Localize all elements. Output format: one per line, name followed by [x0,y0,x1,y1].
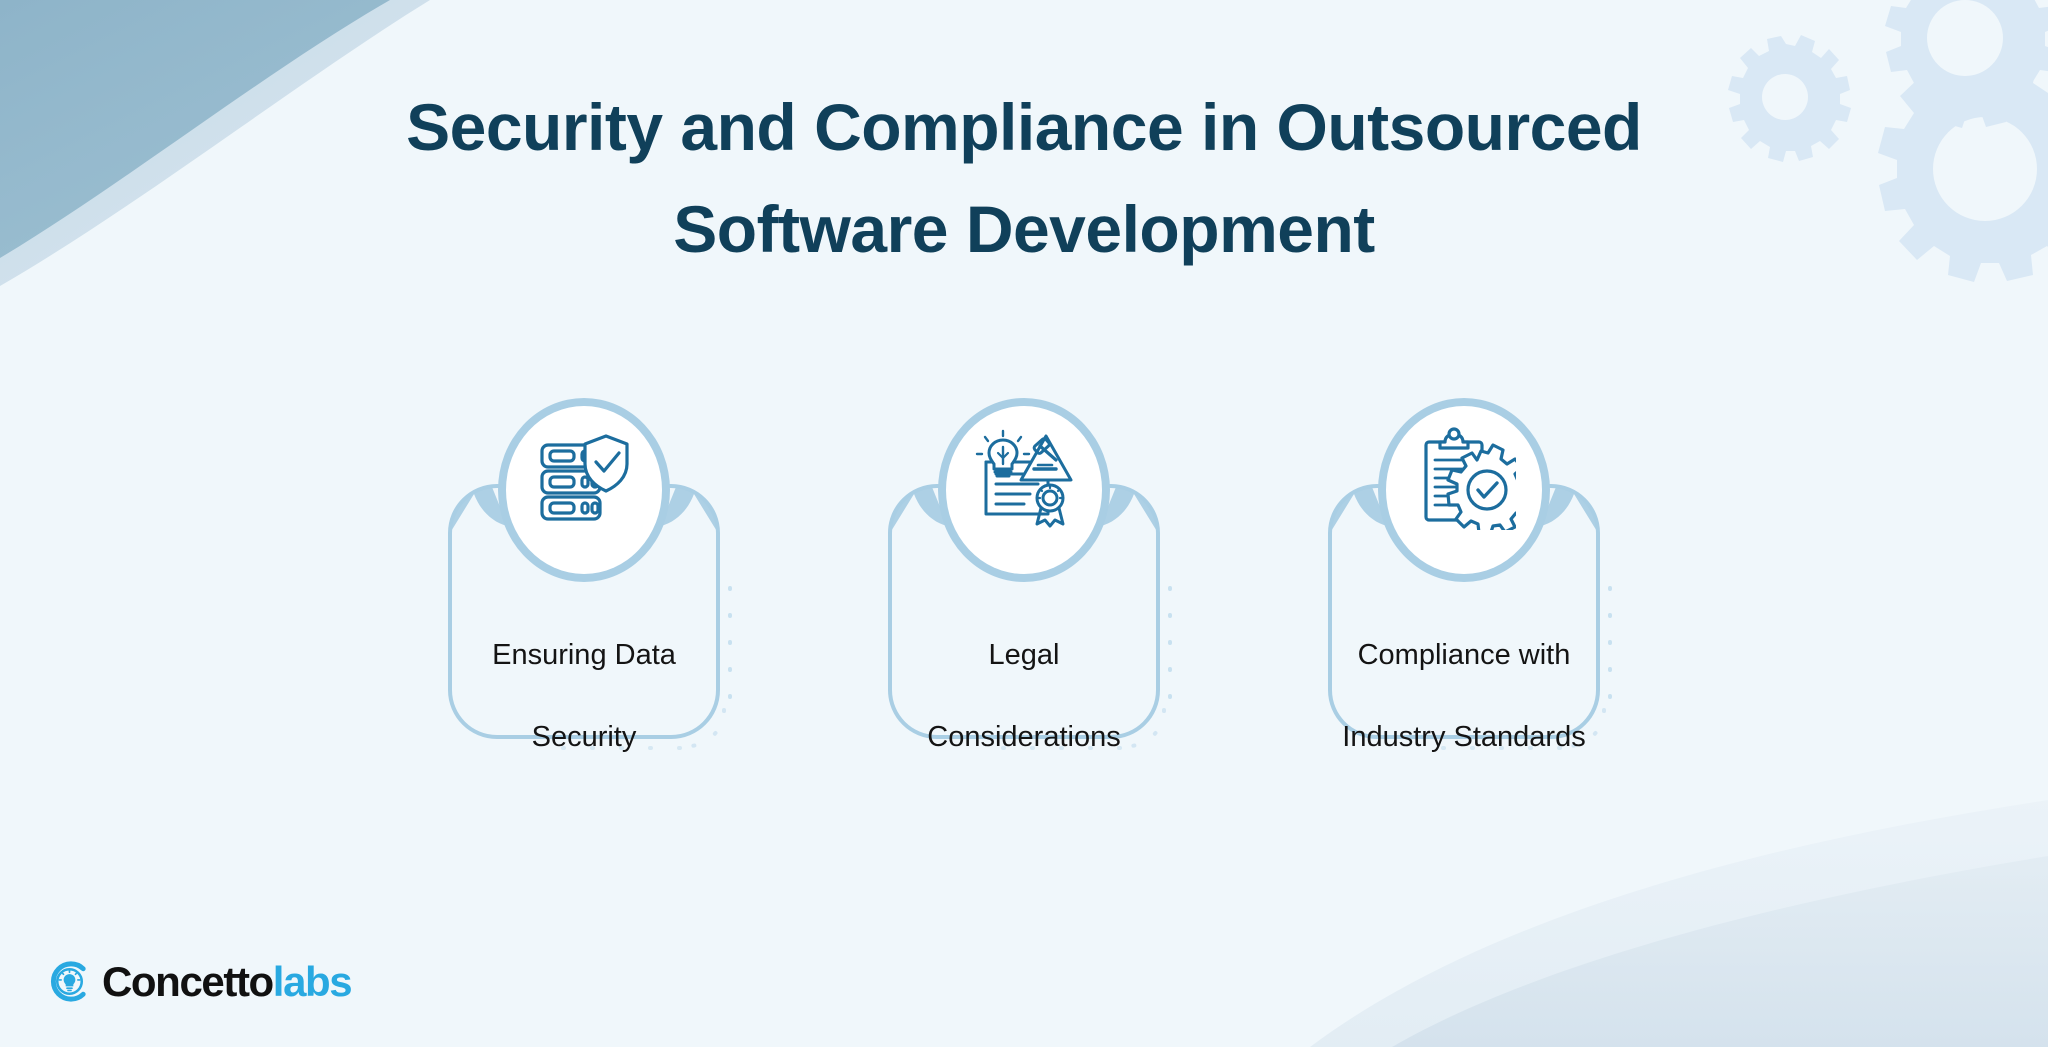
logo-name-accent: labs [273,958,351,1005]
card-label-line-2: Security [418,717,750,758]
certificate-gavel-award-icon [972,426,1076,530]
page-title-line-2: Software Development [0,178,2048,280]
page-title-line-1: Security and Compliance in Outsourced [0,76,2048,178]
card-list: Ensuring Data Security [0,398,2048,798]
server-shield-check-icon [532,426,636,530]
card-legal-considerations[interactable]: Legal Considerations [828,398,1220,788]
card-label-line-2: Considerations [858,717,1190,758]
bottom-right-wave [1392,856,2048,1047]
card-label-line-1: Compliance with [1298,635,1630,676]
logo-wordmark: Concettolabs [102,961,351,1003]
bottom-right-wave-underband [1310,800,2048,1047]
card-compliance-industry-standards[interactable]: Compliance with Industry Standards [1268,398,1660,788]
card-label: Compliance with Industry Standards [1298,594,1630,799]
card-label-line-2: Industry Standards [1298,717,1630,758]
page-title: Security and Compliance in Outsourced So… [0,76,2048,280]
card-label-line-1: Ensuring Data [418,635,750,676]
infographic-canvas: Security and Compliance in Outsourced So… [0,0,2048,1047]
card-ensuring-data-security[interactable]: Ensuring Data Security [388,398,780,788]
concetto-lightbulb-icon [46,958,93,1005]
card-label: Ensuring Data Security [418,594,750,799]
concettolabs-logo[interactable]: Concettolabs [46,958,351,1005]
card-label-line-1: Legal [858,635,1190,676]
card-label: Legal Considerations [858,594,1190,799]
logo-name-dark: Concetto [102,958,273,1005]
clipboard-gear-check-icon [1412,426,1516,530]
